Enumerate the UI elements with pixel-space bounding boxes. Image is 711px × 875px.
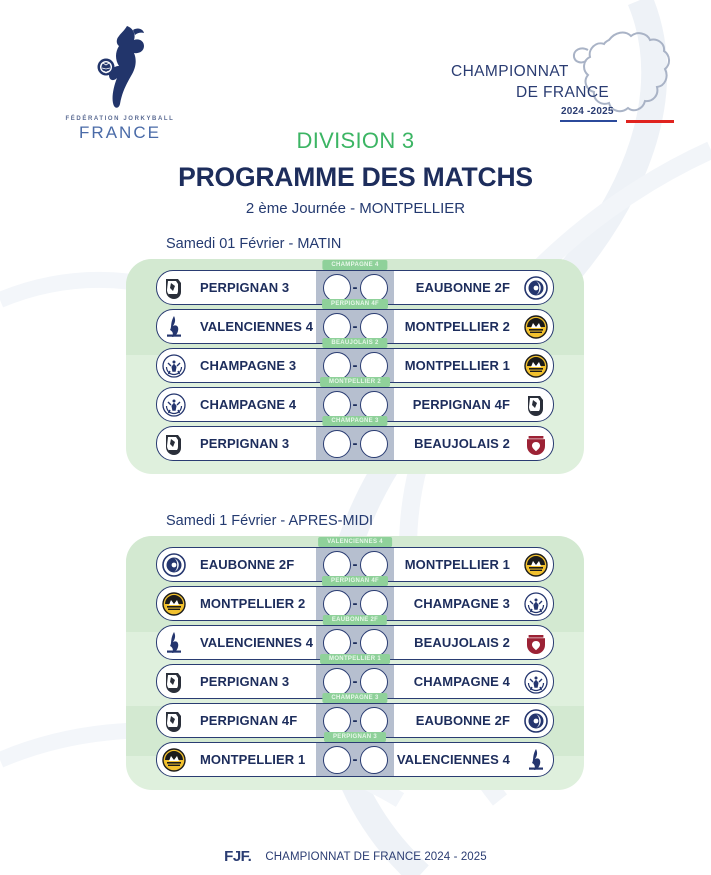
away-team-name: EAUBONNE 2F (394, 713, 524, 728)
away-team-name: CHAMPAGNE 3 (394, 596, 524, 611)
home-team-name: VALENCIENNES 4 (186, 319, 316, 334)
home-team-name: CHAMPAGNE 4 (186, 397, 316, 412)
score-area: - (316, 427, 394, 460)
eaubonne-crest-icon (524, 709, 548, 733)
score-separator: - (353, 358, 358, 373)
beaujolais-crest-icon (524, 631, 548, 655)
referee-badge: MONTPELLIER 1 (320, 654, 390, 664)
division-title: DIVISION 3 (0, 128, 711, 154)
session-matin: Samedi 01 Février - MATIN CHAMPAGNE 4PER… (0, 236, 711, 474)
valenciennes-crest-icon (162, 315, 186, 339)
away-team-name: EAUBONNE 2F (394, 280, 524, 295)
home-score-input[interactable] (323, 391, 351, 419)
away-team-name: BEAUJOLAIS 2 (394, 436, 524, 451)
away-team-name: VALENCIENNES 4 (394, 752, 524, 767)
home-score-input[interactable] (323, 746, 351, 774)
perpignan-crest-icon (162, 432, 186, 456)
championship-season: 2024 -2025 (561, 106, 614, 117)
home-score-input[interactable] (323, 551, 351, 579)
championship-line1: CHAMPIONNAT (451, 63, 569, 81)
home-score-input[interactable] (323, 352, 351, 380)
referee-badge: CHAMPAGNE 3 (322, 693, 387, 703)
match-panel: VALENCIENNES 4EAUBONNE 2F-MONTPELLIER 1P… (126, 536, 584, 790)
away-score-input[interactable] (360, 629, 388, 657)
referee-badge: BEAUJOLAIS 2 (322, 338, 387, 348)
perpignan-crest-icon (162, 709, 186, 733)
score-separator: - (353, 674, 358, 689)
home-team-name: PERPIGNAN 3 (186, 674, 316, 689)
match-list: CHAMPAGNE 4PERPIGNAN 3-EAUBONNE 2FPERPIG… (126, 270, 584, 461)
away-score-input[interactable] (360, 707, 388, 735)
montpellier-crest-icon (524, 553, 548, 577)
home-score-input[interactable] (323, 590, 351, 618)
montpellier-crest-icon (524, 354, 548, 378)
away-team-name: MONTPELLIER 2 (394, 319, 524, 334)
session-apres-midi: Samedi 1 Février - APRES-MIDI VALENCIENN… (0, 513, 711, 790)
page-footer: FJF.CHAMPIONNAT DE FRANCE 2024 - 2025 (0, 848, 711, 866)
referee-badge: PERPIGNAN 4F (322, 299, 388, 309)
away-score-input[interactable] (360, 590, 388, 618)
score-separator: - (353, 436, 358, 451)
home-team-name: PERPIGNAN 4F (186, 713, 316, 728)
valenciennes-crest-icon (524, 748, 548, 772)
championship-line2: DE FRANCE (516, 84, 609, 102)
match-row[interactable]: PERPIGNAN 3MONTPELLIER 1-VALENCIENNES 4 (156, 742, 554, 777)
away-score-input[interactable] (360, 313, 388, 341)
federation-subtitle: FÉDÉRATION JORKYBALL (55, 116, 185, 122)
home-team-name: PERPIGNAN 3 (186, 436, 316, 451)
title-block: DIVISION 3 PROGRAMME DES MATCHS 2 ème Jo… (0, 128, 711, 217)
page-title: PROGRAMME DES MATCHS (0, 162, 711, 193)
montpellier-crest-icon (162, 592, 186, 616)
home-score-input[interactable] (323, 313, 351, 341)
eaubonne-crest-icon (524, 276, 548, 300)
valenciennes-crest-icon (162, 631, 186, 655)
away-team-name: PERPIGNAN 4F (394, 397, 524, 412)
match-row[interactable]: CHAMPAGNE 3PERPIGNAN 3-BEAUJOLAIS 2 (156, 426, 554, 461)
score-area: - (316, 743, 394, 776)
away-team-name: CHAMPAGNE 4 (394, 674, 524, 689)
eaubonne-crest-icon (162, 553, 186, 577)
page-header: FÉDÉRATION JORKYBALL FRANCE CHAMPIONNAT … (0, 0, 711, 225)
home-score-input[interactable] (323, 707, 351, 735)
perpignan-crest-icon (162, 670, 186, 694)
referee-badge: PERPIGNAN 3 (324, 732, 386, 742)
score-separator: - (353, 635, 358, 650)
referee-badge: PERPIGNAN 4F (322, 576, 388, 586)
referee-badge: CHAMPAGNE 3 (322, 416, 387, 426)
blue-rule (560, 120, 617, 122)
away-score-input[interactable] (360, 430, 388, 458)
referee-badge: EAUBONNE 2F (323, 615, 387, 625)
champagne-crest-icon (162, 393, 186, 417)
away-score-input[interactable] (360, 352, 388, 380)
score-separator: - (353, 752, 358, 767)
champagne-crest-icon (162, 354, 186, 378)
home-team-name: MONTPELLIER 2 (186, 596, 316, 611)
home-score-input[interactable] (323, 668, 351, 696)
referee-badge: VALENCIENNES 4 (318, 537, 392, 547)
away-score-input[interactable] (360, 668, 388, 696)
away-team-name: BEAUJOLAIS 2 (394, 635, 524, 650)
perpignan-crest-icon (524, 393, 548, 417)
away-team-name: MONTPELLIER 1 (394, 557, 524, 572)
away-score-input[interactable] (360, 551, 388, 579)
score-separator: - (353, 280, 358, 295)
home-team-name: CHAMPAGNE 3 (186, 358, 316, 373)
home-score-input[interactable] (323, 274, 351, 302)
away-score-input[interactable] (360, 391, 388, 419)
match-list: VALENCIENNES 4EAUBONNE 2F-MONTPELLIER 1P… (126, 547, 584, 777)
referee-badge: CHAMPAGNE 4 (322, 260, 387, 270)
red-rule (626, 120, 674, 123)
journee-subtitle: 2 ème Journée - MONTPELLIER (0, 200, 711, 217)
score-separator: - (353, 713, 358, 728)
footer-mark: FJF. (224, 848, 251, 865)
score-separator: - (353, 397, 358, 412)
session-title: Samedi 01 Février - MATIN (166, 236, 711, 252)
perpignan-crest-icon (162, 276, 186, 300)
score-separator: - (353, 319, 358, 334)
home-team-name: VALENCIENNES 4 (186, 635, 316, 650)
home-team-name: MONTPELLIER 1 (186, 752, 316, 767)
session-title: Samedi 1 Février - APRES-MIDI (166, 513, 711, 529)
championship-logo: CHAMPIONNAT DE FRANCE 2024 -2025 (441, 28, 681, 128)
beaujolais-crest-icon (524, 432, 548, 456)
programme-page: FÉDÉRATION JORKYBALL FRANCE CHAMPIONNAT … (0, 0, 711, 875)
score-separator: - (353, 557, 358, 572)
away-score-input[interactable] (360, 746, 388, 774)
home-team-name: PERPIGNAN 3 (186, 280, 316, 295)
home-team-name: EAUBONNE 2F (186, 557, 316, 572)
match-panel: CHAMPAGNE 4PERPIGNAN 3-EAUBONNE 2FPERPIG… (126, 259, 584, 474)
federation-logo: FÉDÉRATION JORKYBALL FRANCE (55, 22, 185, 143)
footer-text: CHAMPIONNAT DE FRANCE 2024 - 2025 (265, 851, 486, 863)
home-score-input[interactable] (323, 430, 351, 458)
away-team-name: MONTPELLIER 1 (394, 358, 524, 373)
rooster-icon (89, 22, 151, 110)
montpellier-crest-icon (524, 315, 548, 339)
champagne-crest-icon (524, 592, 548, 616)
montpellier-crest-icon (162, 748, 186, 772)
away-score-input[interactable] (360, 274, 388, 302)
score-separator: - (353, 596, 358, 611)
referee-badge: MONTPELLIER 2 (320, 377, 390, 387)
champagne-crest-icon (524, 670, 548, 694)
home-score-input[interactable] (323, 629, 351, 657)
